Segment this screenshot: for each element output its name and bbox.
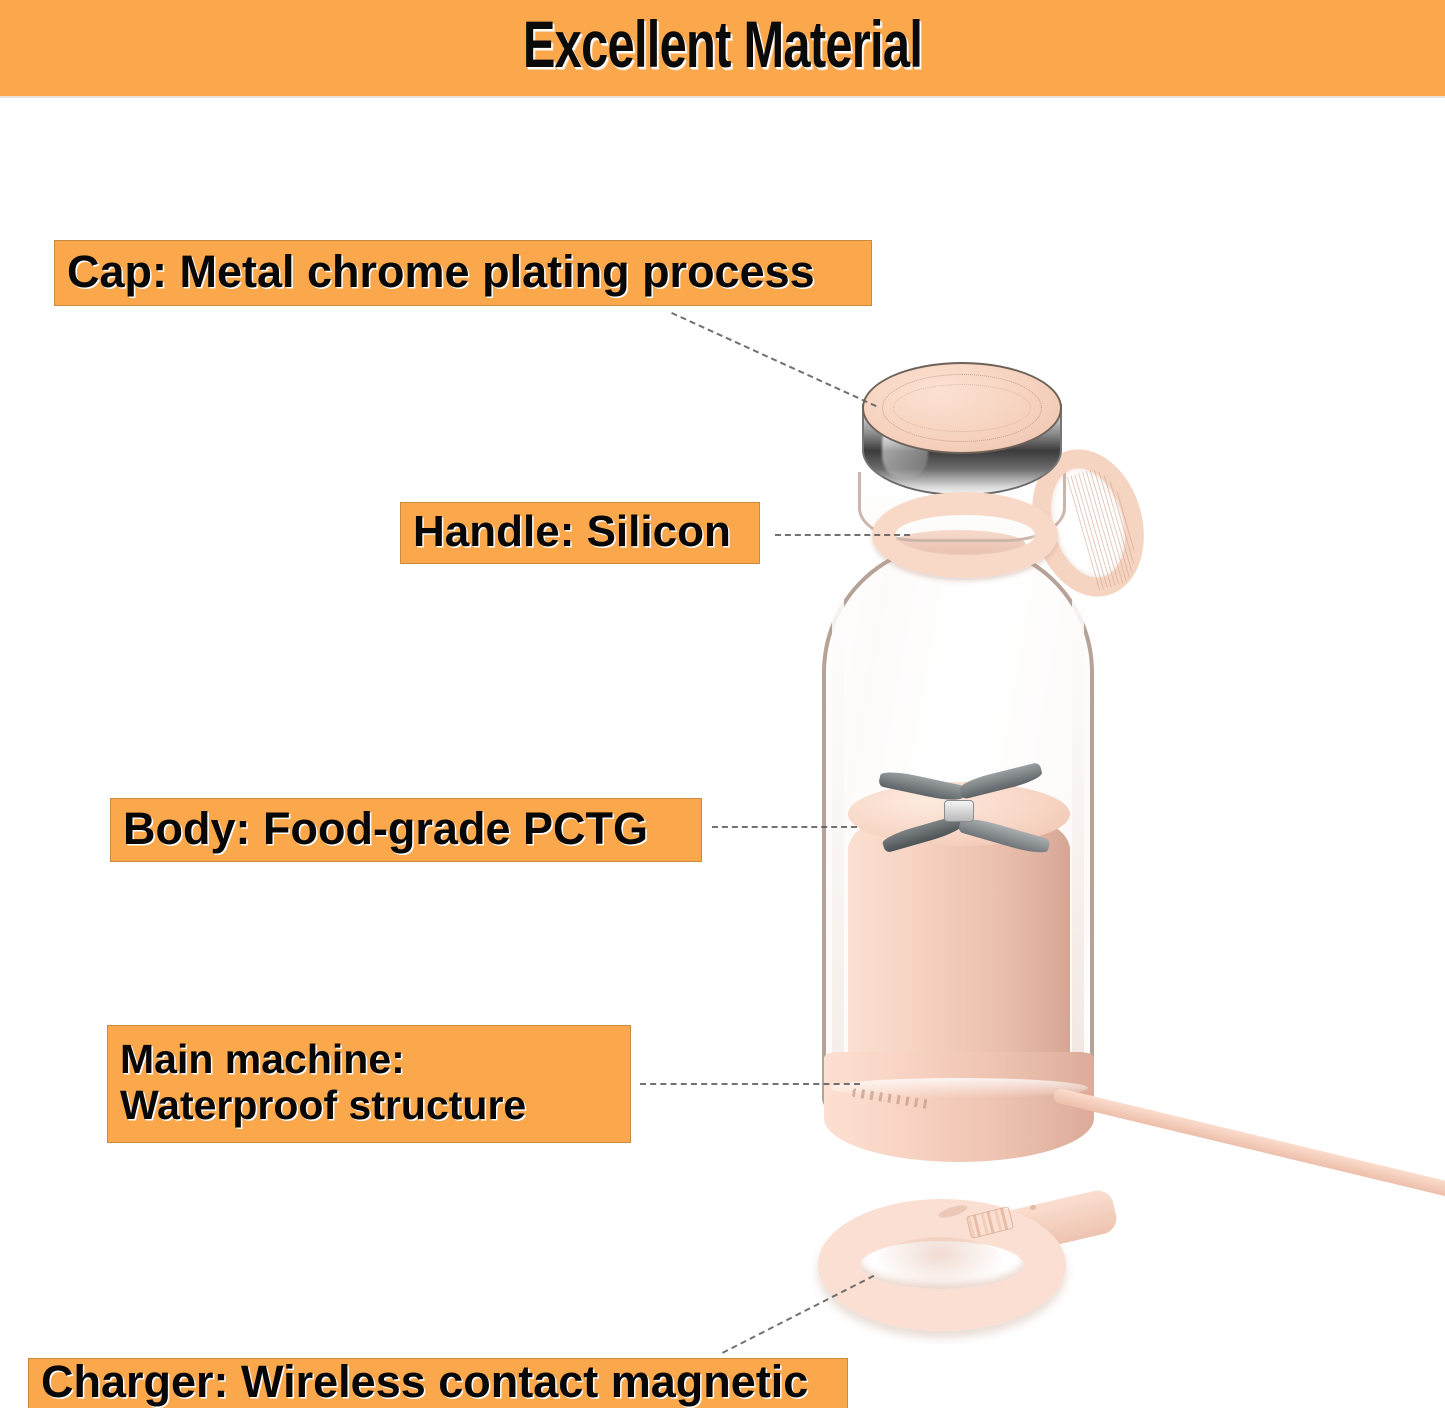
leader-line-body — [712, 826, 857, 828]
charger-ring-inner-shadow — [874, 1237, 1006, 1293]
leader-line-main-machine — [640, 1083, 860, 1085]
callout-label-handle: Handle: Silicon — [400, 502, 760, 564]
callout-label-cap: Cap: Metal chrome plating process — [54, 240, 872, 306]
callout-label-charger: Charger: Wireless contact magnetic — [28, 1358, 848, 1408]
callout-main-line-1: Main machine: — [120, 1037, 620, 1083]
cap-embossed-text-ring — [882, 374, 1042, 442]
callout-label-body: Body: Food-grade PCTG — [110, 798, 702, 862]
cap-assembly — [816, 352, 1136, 582]
callout-body-line-1: Body: Food-grade PCTG — [123, 804, 691, 854]
header-banner: Excellent Material — [0, 0, 1445, 98]
bottle-highlight-right — [1072, 567, 1084, 1087]
main-machine-base — [824, 1052, 1094, 1162]
callout-charger-line-1: Charger: Wireless contact magnetic — [41, 1357, 837, 1407]
page-title: Excellent Material — [188, 6, 1257, 82]
product-image-blender — [796, 352, 1136, 1162]
callout-handle-line-1: Handle: Silicon — [413, 507, 749, 556]
callout-label-main-machine: Main machine: Waterproof structure — [107, 1025, 631, 1143]
callout-main-line-2: Waterproof structure — [120, 1083, 620, 1129]
callout-cap-line-1: Cap: Metal chrome plating process — [67, 247, 861, 297]
blade-hub — [944, 800, 974, 822]
infographic-page: Excellent Material — [0, 0, 1445, 1408]
product-image-charger — [804, 1175, 1445, 1355]
charger-indicator-dot — [1030, 1205, 1036, 1210]
leader-line-handle — [775, 534, 910, 536]
